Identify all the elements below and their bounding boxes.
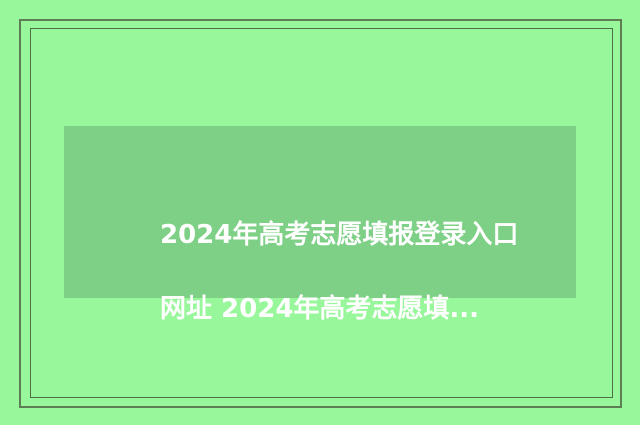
headline-line-1: 2024年高考志愿填报登录入口 — [160, 217, 560, 254]
content-panel: 2024年高考志愿填报登录入口 网址 2024年高考志愿填... — [64, 126, 576, 298]
headline-line-2: 网址 2024年高考志愿填... — [160, 291, 560, 328]
page-canvas: 2024年高考志愿填报登录入口 网址 2024年高考志愿填... — [0, 0, 640, 425]
headline-text: 2024年高考志愿填报登录入口 网址 2024年高考志愿填... — [160, 180, 560, 365]
